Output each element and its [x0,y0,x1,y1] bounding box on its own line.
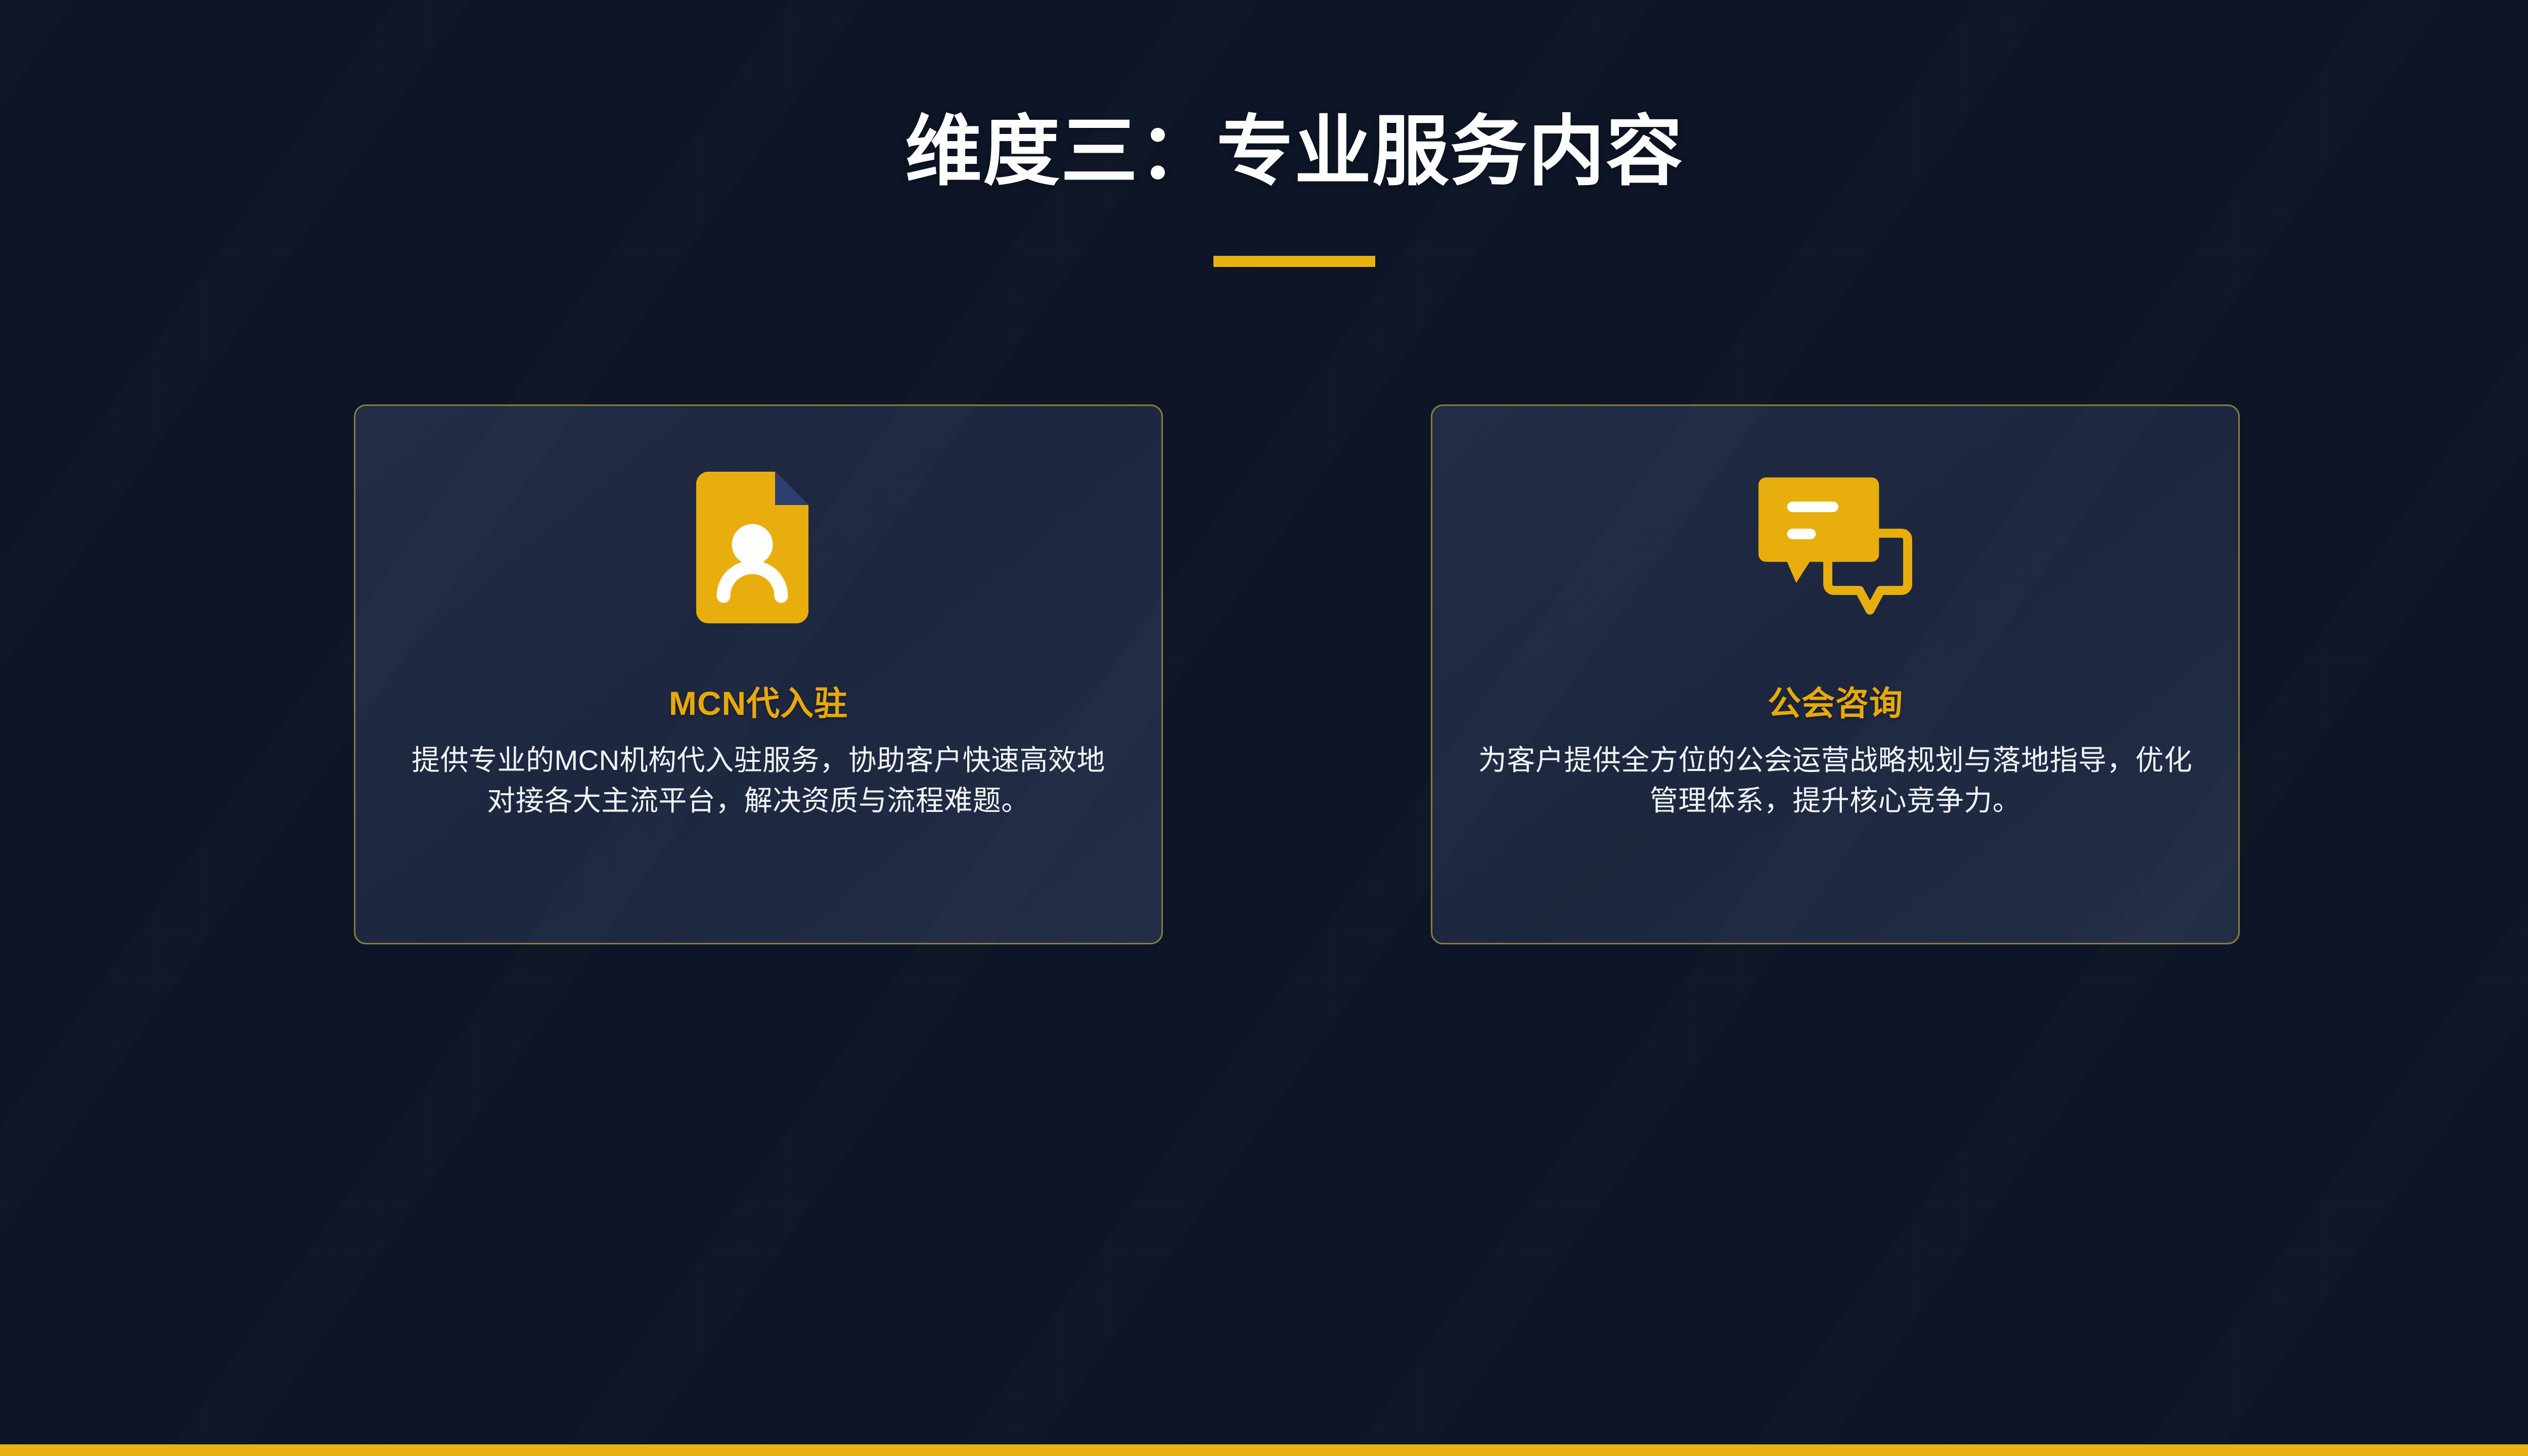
slide-root: 维度三：专业服务内容 MCN代入驻 提供专业的MCN机构代入驻服务，协助客户快速… [0,0,2528,1456]
bottom-accent-bar [0,1444,2528,1456]
title-underline-bar [1213,256,1375,267]
document-person-icon [696,472,821,623]
service-card-mcn[interactable]: MCN代入驻 提供专业的MCN机构代入驻服务，协助客户快速高效地对接各大主流平台… [354,404,1163,944]
card-description: 为客户提供全方位的公会运营战略规划与落地指导，优化管理体系，提升核心竞争力。 [1476,740,2194,821]
card-title: MCN代入驻 [669,687,848,720]
page-title: 维度三：专业服务内容 [0,107,2528,196]
chat-bubbles-icon [1757,472,1914,623]
service-card-guild[interactable]: 公会咨询 为客户提供全方位的公会运营战略规划与落地指导，优化管理体系，提升核心竞… [1431,404,2240,944]
card-description: 提供专业的MCN机构代入驻服务，协助客户快速高效地对接各大主流平台，解决资质与流… [399,740,1117,821]
card-title: 公会咨询 [1768,687,1903,720]
title-block: 维度三：专业服务内容 [0,107,2528,196]
